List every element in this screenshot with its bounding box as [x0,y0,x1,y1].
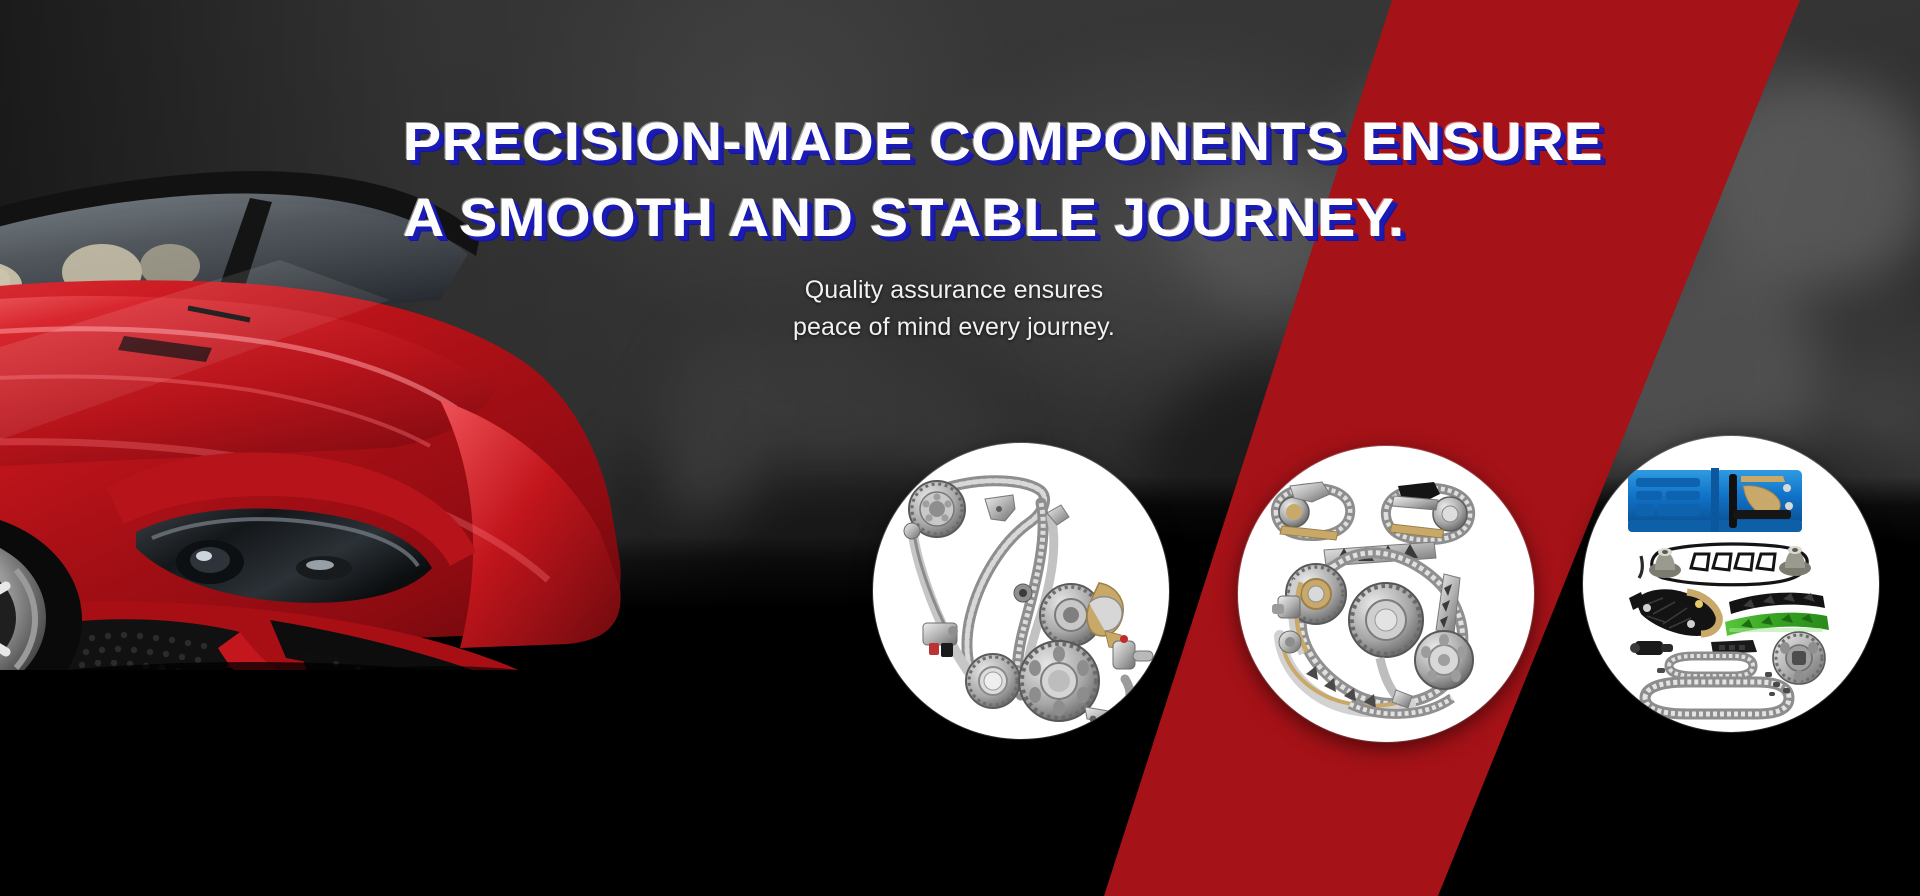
product-circle-timing-chain-kit-1[interactable] [873,443,1169,739]
promo-banner: PRECISION-MADE COMPONENTS ENSURE A SMOOT… [0,0,1920,896]
timing-chain-kit-1-image [873,443,1169,739]
timing-chain-kit-2-image [1238,446,1534,742]
banner-headline: PRECISION-MADE COMPONENTS ENSURE A SMOOT… [403,104,1463,256]
product-circle-timing-chain-kit-3[interactable] [1583,436,1879,732]
timing-chain-kit-3-image [1583,436,1879,732]
headline-line-2: A SMOOTH AND STABLE JOURNEY. [403,180,1463,256]
banner-subtitle: Quality assurance ensures peace of mind … [744,272,1164,346]
product-circle-timing-chain-kit-2[interactable] [1238,446,1534,742]
subtitle-line-1: Quality assurance ensures [805,276,1103,304]
subtitle-line-2: peace of mind every journey. [793,313,1115,341]
headline-line-1: PRECISION-MADE COMPONENTS ENSURE [403,112,1603,172]
